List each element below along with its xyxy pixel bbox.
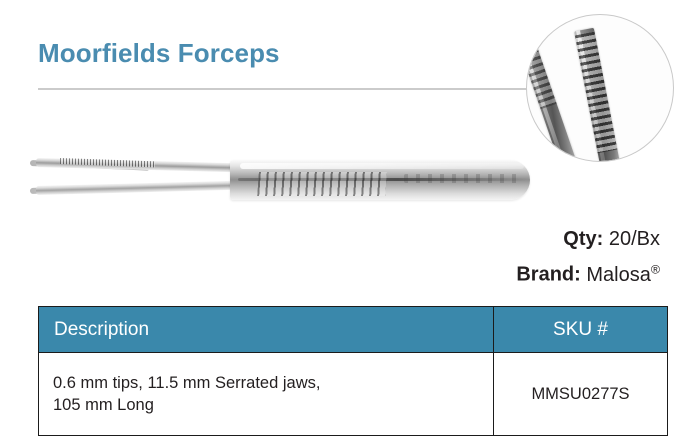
cell-description: 0.6 mm tips, 11.5 mm Serrated jaws, 105 …	[39, 353, 494, 436]
spec-summary: Qty: 20/Bx Brand: Malosa®	[516, 224, 660, 290]
product-photo	[30, 138, 540, 220]
product-spec-sheet: Moorfields Forceps Qty: 20/Bx	[0, 0, 685, 443]
specification-table: Description SKU # 0.6 mm tips, 11.5 mm S…	[38, 306, 668, 436]
brand-name: Malosa	[586, 264, 650, 286]
forceps-handle-ridges	[257, 172, 387, 196]
tip-serrations	[575, 32, 618, 154]
column-header-description: Description	[39, 307, 494, 353]
tip-serrations	[527, 49, 557, 109]
table-header-row: Description SKU #	[39, 307, 668, 353]
qty-label: Qty:	[563, 228, 603, 250]
brand-line: Brand: Malosa®	[516, 254, 660, 290]
qty-value: 20/Bx	[609, 228, 660, 250]
cell-sku: MMSU0277S	[494, 353, 668, 436]
forceps-handle-etching	[404, 174, 519, 183]
column-header-sku: SKU #	[494, 307, 668, 353]
description-line-1: 0.6 mm tips, 11.5 mm Serrated jaws,	[53, 372, 479, 394]
forceps-tip-back	[574, 28, 621, 161]
forceps-handle-highlight	[240, 163, 524, 169]
page-title: Moorfields Forceps	[38, 38, 280, 69]
registered-trademark-icon: ®	[651, 262, 660, 276]
detail-inset-image	[527, 15, 673, 161]
brand-label: Brand:	[516, 264, 580, 286]
description-line-2: 105 mm Long	[53, 394, 479, 416]
table-row: 0.6 mm tips, 11.5 mm Serrated jaws, 105 …	[39, 353, 668, 436]
qty-line: Qty: 20/Bx	[516, 224, 660, 254]
detail-inset-circle	[526, 14, 674, 162]
title-divider	[38, 88, 538, 90]
brand-value: Malosa®	[586, 264, 660, 286]
